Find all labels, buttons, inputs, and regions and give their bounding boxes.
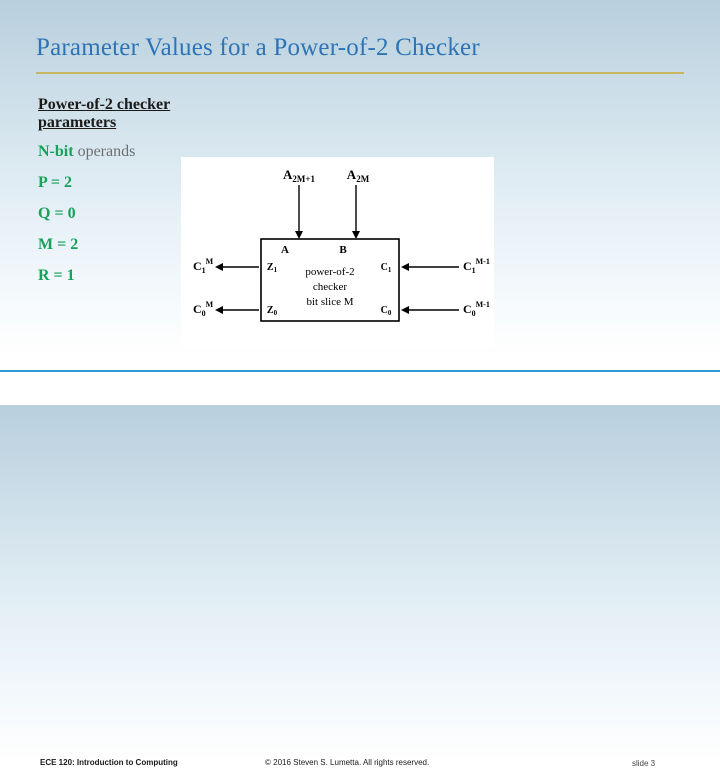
circuit-figure: A2M+1 A2M A B Z1 Z0 C1 C0 power-of-2 che… xyxy=(181,157,494,347)
bullet-heading: Power-of-2 checker parameters xyxy=(38,96,218,132)
arrowhead-a2m1 xyxy=(295,231,303,239)
arrowhead-c1m xyxy=(215,263,223,271)
label-a2m-plus-1: A2M+1 xyxy=(283,167,316,184)
label-port-a: A xyxy=(281,244,289,256)
label-c0-m: C0M xyxy=(193,300,214,318)
bullet-nbit-strong: N-bit xyxy=(38,143,74,160)
label-port-b: B xyxy=(339,244,347,256)
footer-copyright: © 2016 Steven S. Lumetta. All rights res… xyxy=(265,758,429,767)
label-c1-m: C1M xyxy=(193,257,214,275)
label-c0-m-1: C0M-1 xyxy=(463,300,490,318)
label-a2m: A2M xyxy=(347,167,370,184)
box-text-line2: checker xyxy=(313,281,348,293)
bullet-nbit-rest: operands xyxy=(74,143,136,160)
arrowhead-a2m xyxy=(352,231,360,239)
footer-course: ECE 120: Introduction to Computing xyxy=(40,758,178,767)
footer-slide-number: slide 3 xyxy=(632,759,655,768)
box-text-line3: bit slice M xyxy=(306,296,353,308)
page-title: Parameter Values for a Power-of-2 Checke… xyxy=(36,34,686,62)
arrowhead-c0m1 xyxy=(401,306,409,314)
box-text-line1: power-of-2 xyxy=(305,266,354,278)
arrowhead-c0m xyxy=(215,306,223,314)
footer: ECE 120: Introduction to Computing © 201… xyxy=(0,372,720,405)
label-c1-m-1: C1M-1 xyxy=(463,257,490,275)
circuit-diagram: A2M+1 A2M A B Z1 Z0 C1 C0 power-of-2 che… xyxy=(181,157,494,347)
arrowhead-c1m1 xyxy=(401,263,409,271)
title-divider xyxy=(36,72,684,74)
